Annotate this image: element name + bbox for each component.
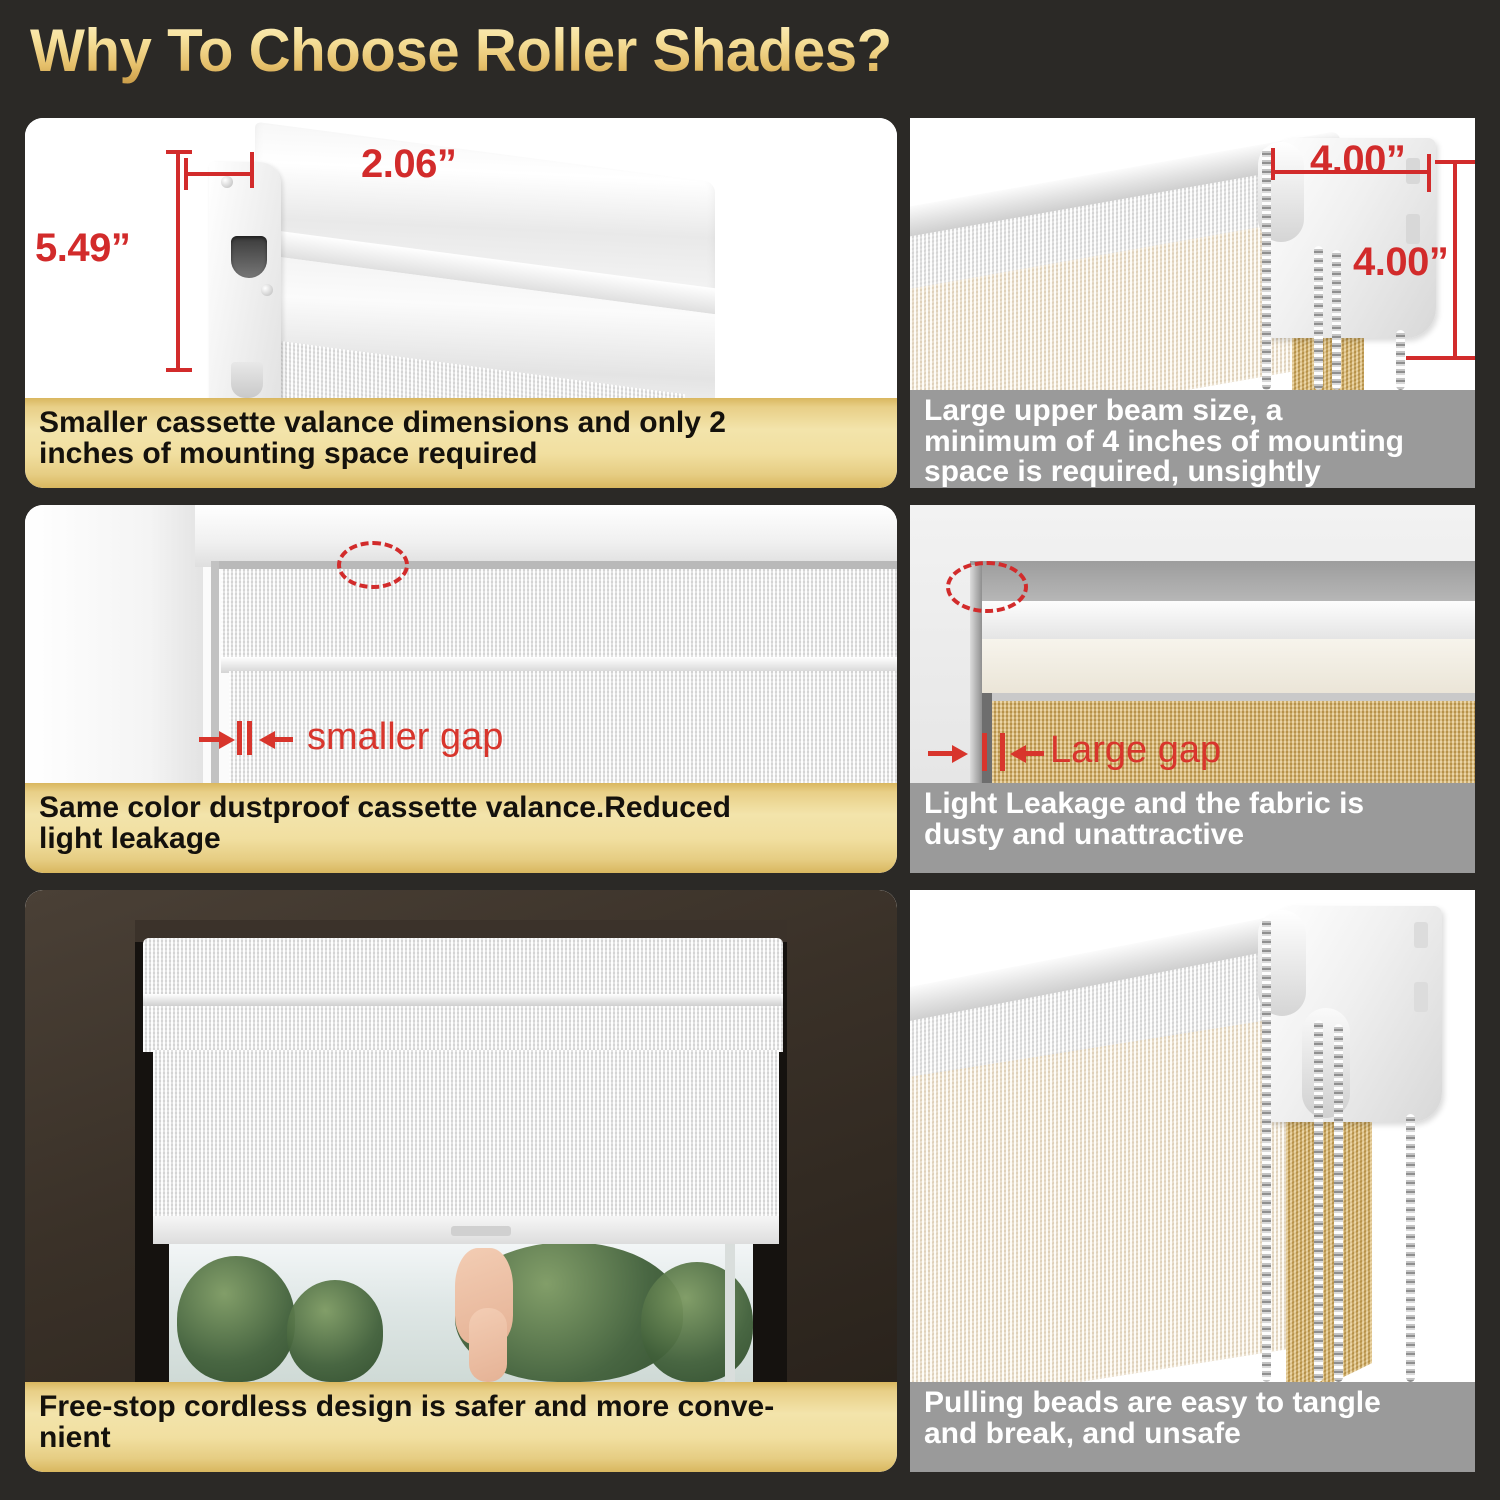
height-dimension-line xyxy=(176,150,180,372)
panel-top-left: 2.06” 5.49” Smaller cassette valance dim… xyxy=(25,118,897,488)
depth-tick-right xyxy=(250,152,254,188)
beam-bottom-line xyxy=(970,693,1475,701)
height-tick-bottom-right xyxy=(1406,356,1475,360)
caption-line: Large upper beam size, a xyxy=(924,396,1404,427)
caption-line: minimum of 4 inches of mounting xyxy=(924,427,1404,458)
caption-line: dusty and unattractive xyxy=(924,820,1364,851)
shade-fabric-beige xyxy=(910,1017,1290,1382)
caption-top-right: Large upper beam size, a minimum of 4 in… xyxy=(910,390,1475,488)
valance-top xyxy=(143,938,783,1000)
caption-line: Same color dustproof cassette valance.Re… xyxy=(39,793,731,824)
caption-line: light leakage xyxy=(39,824,731,855)
tree-mid xyxy=(287,1280,383,1382)
shade-panel xyxy=(153,1050,779,1240)
caption-mid-left: Same color dustproof cassette valance.Re… xyxy=(25,783,897,873)
gap-arrow-tail-left xyxy=(928,751,954,756)
height-tick-bottom xyxy=(166,368,192,372)
panel-top-right: 4.00” 4.00” Large upper beam size, a min… xyxy=(910,118,1475,488)
valance-slot-upper xyxy=(231,236,267,278)
gap-arrow-tail-left xyxy=(199,737,221,742)
gap-arrow-tail-right xyxy=(275,737,293,742)
casing-side-edge xyxy=(211,561,219,783)
bracket-slot-a xyxy=(1414,922,1428,948)
bead-chain-back xyxy=(1334,1024,1343,1382)
panel-mid-left-image: smaller gap xyxy=(25,505,897,783)
highlight-circle xyxy=(337,541,409,589)
bead-chain-mid xyxy=(1314,246,1323,390)
panel-mid-right-image: Large gap xyxy=(910,505,1475,783)
gap-arrow-tail-right xyxy=(1026,751,1044,756)
cassette-valance-illustration xyxy=(25,118,897,398)
caption-line: inches of mounting space required xyxy=(39,439,726,470)
gap-bar-a xyxy=(982,733,987,771)
height-dimension-line-right xyxy=(1453,160,1457,360)
panel-top-left-image: 2.06” 5.49” xyxy=(25,118,897,398)
bead-chain-back xyxy=(1332,250,1341,390)
tree-far-right xyxy=(641,1262,753,1382)
height-tick-top-right xyxy=(1435,160,1475,164)
forearm xyxy=(469,1308,507,1382)
caption-line: and break, and unsafe xyxy=(924,1419,1381,1450)
caption-line: Pulling beads are easy to tangle xyxy=(924,1388,1381,1419)
valance-screw-top xyxy=(221,176,233,188)
panel-bottom-right: Pulling beads are easy to tangle and bre… xyxy=(910,890,1475,1472)
width-dimension-label: 4.00” xyxy=(1310,138,1405,183)
height-tick-top xyxy=(166,150,192,154)
panel-mid-right: Large gap Light Leakage and the fabric i… xyxy=(910,505,1475,873)
window-mullion xyxy=(725,1240,735,1382)
bead-chain-front xyxy=(1262,918,1271,1382)
depth-tick-left xyxy=(184,158,188,190)
panel-top-right-image: 4.00” 4.00” xyxy=(910,118,1475,390)
gap-arrow-right-icon xyxy=(219,731,235,749)
gap-bar-a xyxy=(237,721,242,755)
cassette-valance-band xyxy=(221,569,897,665)
gap-arrow-left-icon xyxy=(259,731,275,749)
gap-arrow-right-icon xyxy=(952,745,968,763)
height-dimension-label-right: 4.00” xyxy=(1353,240,1448,285)
caption-line: Light Leakage and the fabric is xyxy=(924,789,1364,820)
caption-top-left: Smaller cassette valance dimensions and … xyxy=(25,398,897,488)
valance-groove xyxy=(143,994,783,1006)
caption-mid-right: Light Leakage and the fabric is dusty an… xyxy=(910,783,1475,873)
bead-chain-front xyxy=(1262,148,1271,390)
tree-left xyxy=(177,1256,295,1382)
width-tick-left xyxy=(1271,148,1275,180)
caption-line: space is required, unsightly xyxy=(924,457,1404,488)
smaller-gap-label: smaller gap xyxy=(307,716,503,759)
depth-dimension-label: 2.06” xyxy=(361,142,456,187)
caption-bottom-right: Pulling beads are easy to tangle and bre… xyxy=(910,1382,1475,1472)
bead-chain-loop xyxy=(1406,1114,1415,1382)
bead-chain-mid xyxy=(1314,1020,1323,1382)
pull-tab xyxy=(451,1226,511,1236)
upper-beam-shadow xyxy=(970,561,1475,605)
panel-bottom-left: Free-stop cordless design is safer and m… xyxy=(25,890,897,1472)
width-tick-right xyxy=(1427,154,1431,192)
beam-edge xyxy=(970,639,1475,697)
bead-chain-loop xyxy=(1396,330,1405,390)
casing-inner-edge xyxy=(217,561,897,569)
large-gap-label: Large gap xyxy=(1050,729,1221,772)
gap-bar-b xyxy=(247,721,252,755)
highlight-circle-right xyxy=(946,561,1028,613)
caption-line: nient xyxy=(39,1423,774,1454)
panel-bottom-right-image xyxy=(910,890,1475,1382)
gap-bar-b xyxy=(1000,733,1005,771)
bracket-slot-b xyxy=(1414,982,1428,1012)
page-title: Why To Choose Roller Shades? xyxy=(30,16,892,85)
valance-screw-mid xyxy=(261,284,273,296)
valance-slot-lower xyxy=(231,362,263,398)
depth-dimension-line xyxy=(186,172,252,176)
caption-line: Smaller cassette valance dimensions and … xyxy=(39,408,726,439)
height-dimension-label: 5.49” xyxy=(35,226,130,271)
panel-bottom-left-image xyxy=(25,890,897,1382)
upper-beam xyxy=(970,601,1475,643)
panel-mid-left: smaller gap Same color dustproof cassett… xyxy=(25,505,897,873)
valance-lower-lip xyxy=(143,1006,783,1052)
gap-arrow-left-icon xyxy=(1010,745,1026,763)
infographic-root: Why To Choose Roller Shades? 2.06” xyxy=(0,0,1500,1500)
window-casing-top xyxy=(195,505,897,567)
caption-bottom-left: Free-stop cordless design is safer and m… xyxy=(25,1382,897,1472)
caption-line: Free-stop cordless design is safer and m… xyxy=(39,1392,774,1423)
window-casing-left xyxy=(25,505,203,783)
